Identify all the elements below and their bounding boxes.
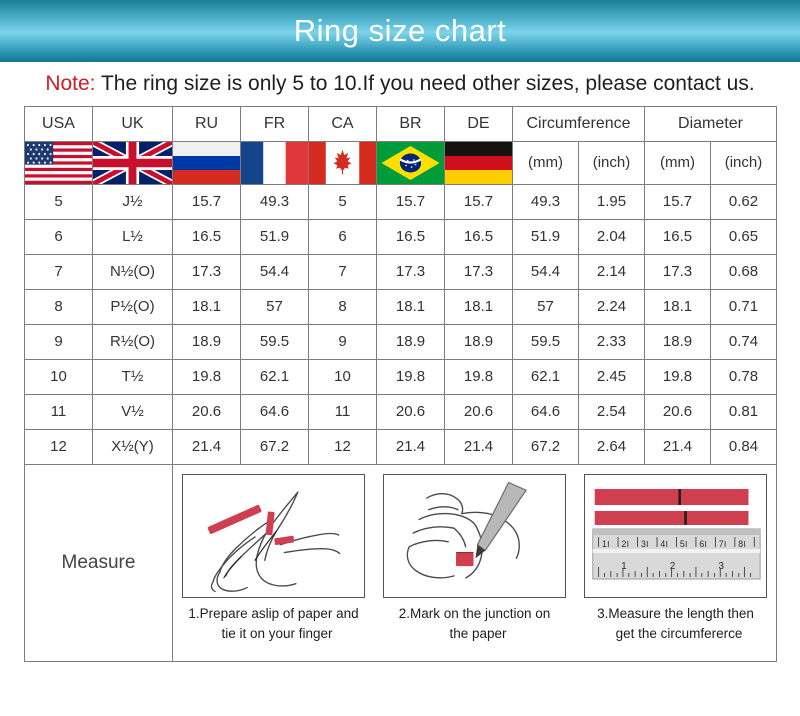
measure-step-2: 2.Mark on the junction on the paper bbox=[374, 465, 575, 645]
column-header-fr: FR bbox=[241, 106, 309, 141]
subheader-circumference-inch: (inch) bbox=[579, 141, 645, 184]
subheader-diameter-mm: (mm) bbox=[645, 141, 711, 184]
svg-text:3: 3 bbox=[719, 561, 725, 572]
measure-step-3-line1: 3.Measure the length then bbox=[597, 606, 754, 621]
cell-diameter-mm: 21.4 bbox=[645, 429, 711, 464]
cell-ru: 19.8 bbox=[173, 359, 241, 394]
table-row: 7 N½(O) 17.3 54.4 7 17.3 17.3 54.4 2.14 … bbox=[25, 254, 777, 289]
cell-usa: 9 bbox=[25, 324, 93, 359]
subheader-circumference-mm: (mm) bbox=[513, 141, 579, 184]
ru-flag bbox=[173, 142, 240, 184]
cell-circumference-mm: 67.2 bbox=[513, 429, 579, 464]
measure-step-1-caption: 1.Prepare aslip of paper and tie it on y… bbox=[182, 598, 365, 645]
cell-br: 20.6 bbox=[377, 394, 445, 429]
column-header-br: BR bbox=[377, 106, 445, 141]
column-header-diameter: Diameter bbox=[645, 106, 777, 141]
note-body: The ring size is only 5 to 10.If you nee… bbox=[101, 72, 755, 95]
table-row: 8 P½(O) 18.1 57 8 18.1 18.1 57 2.24 18.1… bbox=[25, 289, 777, 324]
column-header-ca: CA bbox=[309, 106, 377, 141]
cell-diameter-inch: 0.81 bbox=[711, 394, 777, 429]
cell-ru: 18.9 bbox=[173, 324, 241, 359]
uk-flag bbox=[93, 142, 172, 184]
column-header-ru: RU bbox=[173, 106, 241, 141]
cell-de: 21.4 bbox=[445, 429, 513, 464]
cell-ru: 18.1 bbox=[173, 289, 241, 324]
ring-size-table: USA UK RU FR CA BR DE Circumference Diam… bbox=[24, 106, 777, 662]
svg-text:1: 1 bbox=[602, 539, 607, 549]
cell-ca: 12 bbox=[309, 429, 377, 464]
measure-step-2-line1: 2.Mark on the junction on bbox=[399, 606, 551, 621]
cell-fr: 51.9 bbox=[241, 219, 309, 254]
cell-ca: 10 bbox=[309, 359, 377, 394]
us-flag-cell bbox=[25, 141, 93, 184]
cell-circumference-mm: 51.9 bbox=[513, 219, 579, 254]
cell-diameter-mm: 17.3 bbox=[645, 254, 711, 289]
cell-circumference-mm: 54.4 bbox=[513, 254, 579, 289]
cell-diameter-inch: 0.84 bbox=[711, 429, 777, 464]
ru-flag-cell bbox=[173, 141, 241, 184]
cell-diameter-mm: 15.7 bbox=[645, 184, 711, 219]
cell-usa: 12 bbox=[25, 429, 93, 464]
cell-usa: 8 bbox=[25, 289, 93, 324]
de-flag bbox=[445, 142, 512, 184]
cell-diameter-inch: 0.74 bbox=[711, 324, 777, 359]
cell-de: 18.1 bbox=[445, 289, 513, 324]
column-header-uk: UK bbox=[93, 106, 173, 141]
cell-usa: 10 bbox=[25, 359, 93, 394]
cell-uk: V½ bbox=[93, 394, 173, 429]
br-flag bbox=[377, 142, 444, 184]
measure-step-1-line2: tie it on your finger bbox=[182, 624, 365, 644]
cell-br: 16.5 bbox=[377, 219, 445, 254]
cell-circumference-mm: 64.6 bbox=[513, 394, 579, 429]
cell-diameter-inch: 0.68 bbox=[711, 254, 777, 289]
size-table-container: USA UK RU FR CA BR DE Circumference Diam… bbox=[0, 97, 800, 662]
svg-text:6: 6 bbox=[699, 539, 704, 549]
cell-ru: 21.4 bbox=[173, 429, 241, 464]
measure-row: Measure bbox=[25, 464, 777, 661]
cell-fr: 57 bbox=[241, 289, 309, 324]
column-header-usa: USA bbox=[25, 106, 93, 141]
cell-ca: 8 bbox=[309, 289, 377, 324]
cell-usa: 11 bbox=[25, 394, 93, 429]
cell-ca: 7 bbox=[309, 254, 377, 289]
us-flag bbox=[25, 142, 92, 184]
cell-circumference-mm: 49.3 bbox=[513, 184, 579, 219]
hand-with-paper-strip-illustration bbox=[182, 474, 365, 598]
cell-diameter-inch: 0.62 bbox=[711, 184, 777, 219]
cell-br: 18.1 bbox=[377, 289, 445, 324]
de-flag-cell bbox=[445, 141, 513, 184]
cell-ca: 6 bbox=[309, 219, 377, 254]
table-row: 11 V½ 20.6 64.6 11 20.6 20.6 64.6 2.54 2… bbox=[25, 394, 777, 429]
cell-ca: 5 bbox=[309, 184, 377, 219]
cell-fr: 67.2 bbox=[241, 429, 309, 464]
cell-ru: 17.3 bbox=[173, 254, 241, 289]
cell-ru: 15.7 bbox=[173, 184, 241, 219]
measure-step-3-caption: 3.Measure the length then get the circum… bbox=[584, 598, 767, 645]
cell-br: 18.9 bbox=[377, 324, 445, 359]
cell-diameter-mm: 16.5 bbox=[645, 219, 711, 254]
ruler-measuring-strip-illustration: 123 456 78 bbox=[584, 474, 767, 598]
cell-diameter-inch: 0.71 bbox=[711, 289, 777, 324]
cell-de: 17.3 bbox=[445, 254, 513, 289]
measure-step-2-caption: 2.Mark on the junction on the paper bbox=[383, 598, 566, 645]
cell-ca: 11 bbox=[309, 394, 377, 429]
svg-text:3: 3 bbox=[641, 539, 646, 549]
cell-uk: L½ bbox=[93, 219, 173, 254]
cell-circumference-inch: 2.14 bbox=[579, 254, 645, 289]
fr-flag-cell bbox=[241, 141, 309, 184]
measure-step-1-line1: 1.Prepare aslip of paper and bbox=[188, 606, 358, 621]
cell-uk: N½(O) bbox=[93, 254, 173, 289]
cell-uk: T½ bbox=[93, 359, 173, 394]
cell-usa: 5 bbox=[25, 184, 93, 219]
cell-diameter-inch: 0.65 bbox=[711, 219, 777, 254]
cell-diameter-mm: 19.8 bbox=[645, 359, 711, 394]
cell-usa: 6 bbox=[25, 219, 93, 254]
cell-diameter-mm: 18.9 bbox=[645, 324, 711, 359]
cell-br: 21.4 bbox=[377, 429, 445, 464]
ca-flag-cell bbox=[309, 141, 377, 184]
note-text: Note: The ring size is only 5 to 10.If y… bbox=[0, 62, 800, 97]
column-header-circumference: Circumference bbox=[513, 106, 645, 141]
cell-circumference-inch: 2.54 bbox=[579, 394, 645, 429]
cell-uk: R½(O) bbox=[93, 324, 173, 359]
table-row: 9 R½(O) 18.9 59.5 9 18.9 18.9 59.5 2.33 … bbox=[25, 324, 777, 359]
cell-diameter-mm: 18.1 bbox=[645, 289, 711, 324]
table-row: 10 T½ 19.8 62.1 10 19.8 19.8 62.1 2.45 1… bbox=[25, 359, 777, 394]
cell-uk: P½(O) bbox=[93, 289, 173, 324]
hand-marking-paper-with-pen-illustration bbox=[383, 474, 566, 598]
cell-br: 19.8 bbox=[377, 359, 445, 394]
cell-de: 15.7 bbox=[445, 184, 513, 219]
cell-br: 15.7 bbox=[377, 184, 445, 219]
cell-circumference-mm: 57 bbox=[513, 289, 579, 324]
cell-diameter-mm: 20.6 bbox=[645, 394, 711, 429]
ca-flag bbox=[309, 142, 376, 184]
cell-circumference-mm: 59.5 bbox=[513, 324, 579, 359]
cell-circumference-inch: 2.24 bbox=[579, 289, 645, 324]
svg-text:2: 2 bbox=[670, 561, 675, 572]
page-title: Ring size chart bbox=[294, 15, 507, 48]
svg-text:7: 7 bbox=[719, 539, 724, 549]
cell-usa: 7 bbox=[25, 254, 93, 289]
cell-fr: 49.3 bbox=[241, 184, 309, 219]
measure-step-1: 1.Prepare aslip of paper and tie it on y… bbox=[173, 465, 374, 645]
measure-step-3: 123 456 78 bbox=[575, 465, 776, 645]
cell-circumference-inch: 2.04 bbox=[579, 219, 645, 254]
note-label: Note: bbox=[45, 72, 95, 95]
measure-steps-cell: 1.Prepare aslip of paper and tie it on y… bbox=[173, 464, 777, 661]
svg-text:1: 1 bbox=[621, 561, 626, 572]
cell-uk: J½ bbox=[93, 184, 173, 219]
cell-fr: 64.6 bbox=[241, 394, 309, 429]
cell-fr: 54.4 bbox=[241, 254, 309, 289]
table-row: 12 X½(Y) 21.4 67.2 12 21.4 21.4 67.2 2.6… bbox=[25, 429, 777, 464]
cell-de: 19.8 bbox=[445, 359, 513, 394]
table-header-row: USA UK RU FR CA BR DE Circumference Diam… bbox=[25, 106, 777, 141]
cell-circumference-inch: 2.33 bbox=[579, 324, 645, 359]
cell-diameter-inch: 0.78 bbox=[711, 359, 777, 394]
table-row: 6 L½ 16.5 51.9 6 16.5 16.5 51.9 2.04 16.… bbox=[25, 219, 777, 254]
title-banner: Ring size chart bbox=[0, 0, 800, 62]
svg-text:8: 8 bbox=[738, 539, 743, 549]
cell-de: 18.9 bbox=[445, 324, 513, 359]
table-row: 5 J½ 15.7 49.3 5 15.7 15.7 49.3 1.95 15.… bbox=[25, 184, 777, 219]
cell-br: 17.3 bbox=[377, 254, 445, 289]
cell-circumference-inch: 2.64 bbox=[579, 429, 645, 464]
fr-flag bbox=[241, 142, 308, 184]
cell-de: 16.5 bbox=[445, 219, 513, 254]
measure-step-3-line2: get the circumfererce bbox=[584, 624, 767, 644]
cell-uk: X½(Y) bbox=[93, 429, 173, 464]
svg-text:5: 5 bbox=[680, 539, 685, 549]
svg-text:2: 2 bbox=[621, 539, 626, 549]
cell-de: 20.6 bbox=[445, 394, 513, 429]
cell-fr: 59.5 bbox=[241, 324, 309, 359]
cell-circumference-inch: 1.95 bbox=[579, 184, 645, 219]
measure-step-2-line2: the paper bbox=[383, 624, 566, 644]
column-header-de: DE bbox=[445, 106, 513, 141]
cell-ru: 16.5 bbox=[173, 219, 241, 254]
table-flag-row: (mm) (inch) (mm) (inch) bbox=[25, 141, 777, 184]
br-flag-cell bbox=[377, 141, 445, 184]
svg-text:4: 4 bbox=[660, 539, 665, 549]
measure-label: Measure bbox=[25, 464, 173, 661]
cell-fr: 62.1 bbox=[241, 359, 309, 394]
cell-circumference-mm: 62.1 bbox=[513, 359, 579, 394]
cell-circumference-inch: 2.45 bbox=[579, 359, 645, 394]
cell-ru: 20.6 bbox=[173, 394, 241, 429]
cell-ca: 9 bbox=[309, 324, 377, 359]
subheader-diameter-inch: (inch) bbox=[711, 141, 777, 184]
uk-flag-cell bbox=[93, 141, 173, 184]
